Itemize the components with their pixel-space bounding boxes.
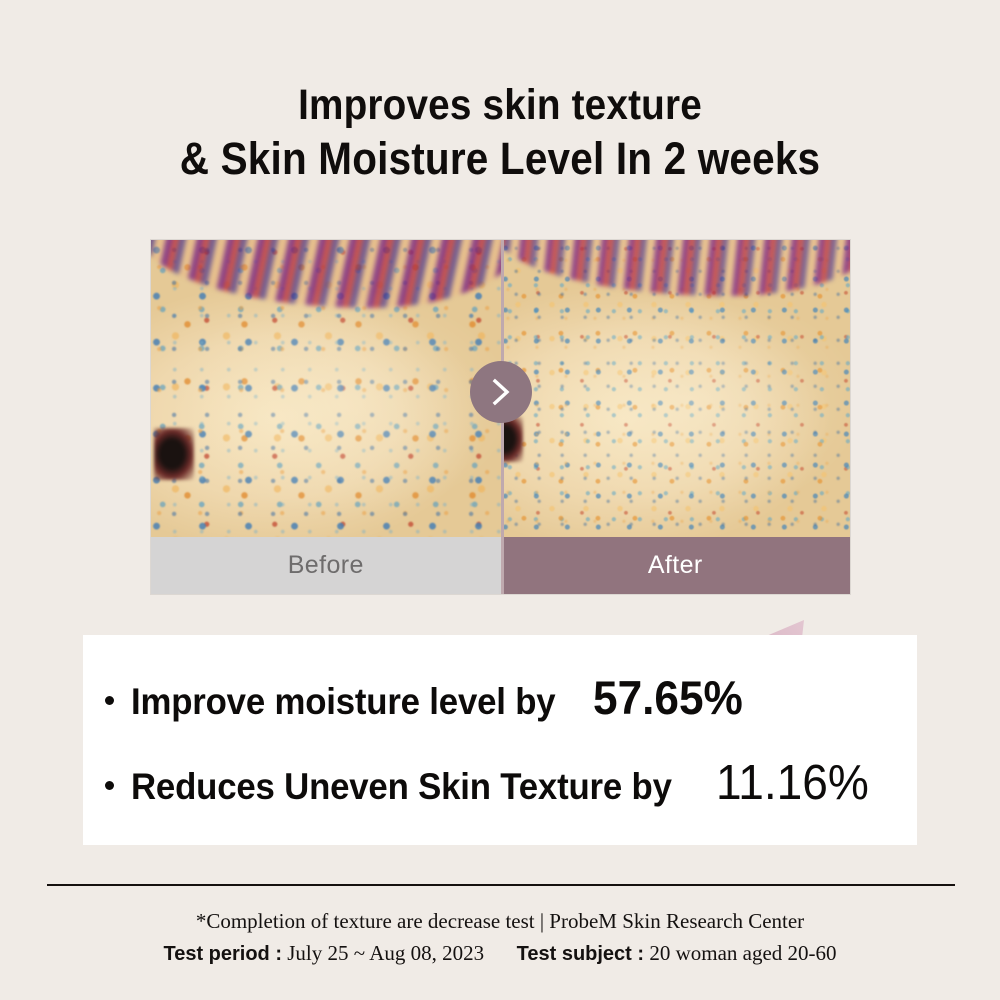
after-label: After <box>501 537 851 594</box>
chevron-right-icon <box>470 361 532 423</box>
footer-line-2: Test period : July 25 ~ Aug 08, 2023 Tes… <box>0 937 1000 970</box>
claim-text: Improve moisture level by <box>131 681 555 723</box>
claim-value: 57.65% <box>593 670 743 725</box>
photo-sheen <box>501 240 851 537</box>
after-skin-photo <box>501 240 851 537</box>
before-column: Before <box>151 240 501 594</box>
after-column: After <box>501 240 851 594</box>
test-subject-label: Test subject : <box>517 943 644 965</box>
claim-row: Reduces Uneven Skin Texture by 11.16% <box>105 755 917 811</box>
test-period-label: Test period : <box>163 943 282 965</box>
bullet-icon <box>105 781 114 790</box>
before-label: Before <box>151 537 501 594</box>
test-subject-value: 20 woman aged 20-60 <box>649 941 836 965</box>
test-period-value: July 25 ~ Aug 08, 2023 <box>287 941 484 965</box>
headline-line-2: & Skin Moisture Level In 2 weeks <box>50 132 950 186</box>
footer-divider <box>47 884 955 886</box>
claims-card: Improve moisture level by 57.65% Reduces… <box>83 635 917 845</box>
photo-sheen <box>151 240 501 537</box>
bullet-icon <box>105 696 114 705</box>
page-title: Improves skin texture & Skin Moisture Le… <box>50 78 950 186</box>
infographic-root: Improves skin texture & Skin Moisture Le… <box>0 0 1000 1000</box>
claim-text: Reduces Uneven Skin Texture by <box>131 766 672 808</box>
before-skin-photo <box>151 240 501 537</box>
claim-value: 11.16% <box>716 755 869 811</box>
claim-row: Improve moisture level by 57.65% <box>105 670 917 725</box>
headline-line-1: Improves skin texture <box>298 81 702 129</box>
before-after-comparison: Before After <box>151 240 850 594</box>
footer-line-1: *Completion of texture are decrease test… <box>0 905 1000 937</box>
footer-disclaimer: *Completion of texture are decrease test… <box>0 905 1000 970</box>
